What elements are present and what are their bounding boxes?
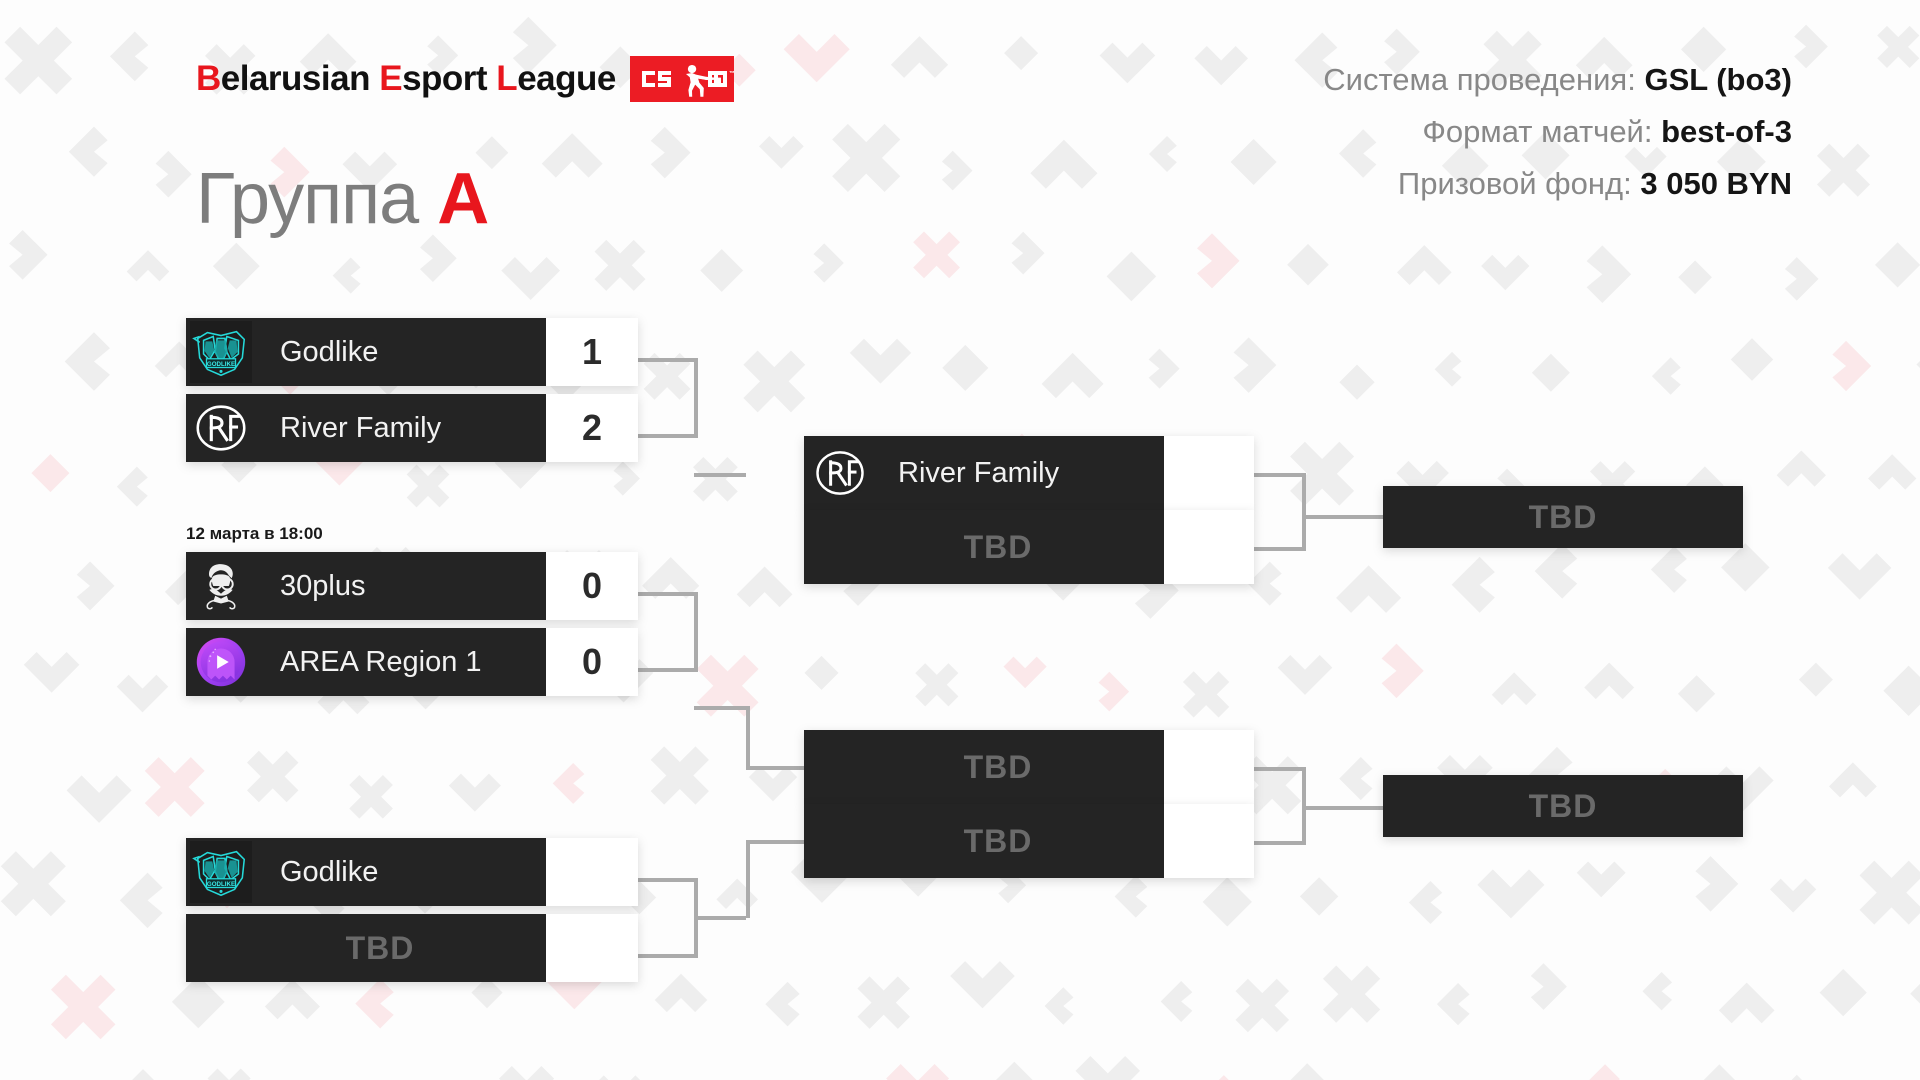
- team-name-tbd: TBD: [832, 529, 1164, 566]
- team-row[interactable]: GODLIKEGodlike: [186, 838, 638, 906]
- godlike-logo: GODLIKE: [190, 321, 252, 383]
- team-box[interactable]: TBD: [804, 510, 1164, 584]
- team-name: River Family: [898, 457, 1059, 490]
- tournament-info: Система проведения: GSL (bo3) Формат мат…: [1323, 54, 1792, 210]
- group-label: Группа: [196, 159, 418, 239]
- group-title: Группа A: [196, 158, 488, 240]
- league-title-part: sport: [402, 59, 496, 98]
- svg-text:GODLIKE: GODLIKE: [207, 361, 235, 368]
- info-line-prize-pool: Призовой фонд: 3 050 BYN: [1323, 158, 1792, 210]
- team-row[interactable]: TBD: [804, 730, 1254, 804]
- team-name: River Family: [280, 412, 441, 445]
- score-box: [1164, 510, 1254, 584]
- info-label: Формат матчей:: [1422, 114, 1652, 149]
- group-letter: A: [437, 159, 488, 239]
- team-row[interactable]: 30plus0: [186, 552, 638, 620]
- league-title-text: Belarusian Esport League: [196, 59, 616, 99]
- score-box: [1164, 730, 1254, 804]
- score-box: 2: [546, 394, 638, 462]
- godlike-logo: GODLIKE: [190, 841, 252, 903]
- team-box[interactable]: GODLIKEGodlike: [186, 838, 546, 906]
- team-row[interactable]: TBD: [804, 510, 1254, 584]
- final-slot[interactable]: TBD: [1383, 775, 1743, 837]
- info-line-match-format: Формат матчей: best-of-3: [1323, 106, 1792, 158]
- team-name-tbd: TBD: [832, 749, 1164, 786]
- team-name: Godlike: [280, 336, 378, 369]
- league-title: Belarusian Esport League: [196, 56, 734, 102]
- team-row[interactable]: TBD: [186, 914, 638, 982]
- score-box: [546, 838, 638, 906]
- score-box: 1: [546, 318, 638, 386]
- league-title-part: elarusian: [221, 59, 379, 98]
- match-date-label: 12 марта в 18:00: [186, 524, 323, 544]
- team-name: 30plus: [280, 570, 365, 603]
- league-title-accent: B: [196, 59, 221, 98]
- team-name-tbd: TBD: [214, 930, 546, 967]
- score-box: [1164, 804, 1254, 878]
- team-box[interactable]: TBD: [804, 730, 1164, 804]
- info-label: Призовой фонд:: [1398, 166, 1632, 201]
- team-row[interactable]: TBD: [804, 804, 1254, 878]
- river-family-logo: [810, 443, 870, 503]
- league-title-part: eague: [517, 59, 616, 98]
- river-family-logo: [190, 397, 252, 459]
- thirtyplus-logo: [190, 555, 252, 617]
- team-box[interactable]: AREA Region 1: [186, 628, 546, 696]
- info-value: best-of-3: [1661, 114, 1792, 149]
- team-name: Godlike: [280, 856, 378, 889]
- team-row[interactable]: River Family: [804, 436, 1254, 510]
- svg-text:™: ™: [729, 70, 734, 77]
- score-box: [1164, 436, 1254, 510]
- league-title-accent: E: [379, 59, 402, 98]
- team-name-tbd: TBD: [832, 823, 1164, 860]
- team-row[interactable]: River Family2: [186, 394, 638, 462]
- info-line-format-system: Система проведения: GSL (bo3): [1323, 54, 1792, 106]
- team-name-tbd: TBD: [1383, 499, 1743, 536]
- team-box[interactable]: TBD: [804, 804, 1164, 878]
- score-box: 0: [546, 628, 638, 696]
- svg-text:GODLIKE: GODLIKE: [207, 881, 235, 888]
- score-box: 0: [546, 552, 638, 620]
- team-box[interactable]: River Family: [186, 394, 546, 462]
- team-box[interactable]: TBD: [1383, 486, 1743, 548]
- team-box[interactable]: River Family: [804, 436, 1164, 510]
- score-box: [546, 914, 638, 982]
- team-box[interactable]: TBD: [1383, 775, 1743, 837]
- final-slot[interactable]: TBD: [1383, 486, 1743, 548]
- team-row[interactable]: AREA Region 10: [186, 628, 638, 696]
- info-value: 3 050 BYN: [1640, 166, 1792, 201]
- team-name-tbd: TBD: [1383, 788, 1743, 825]
- league-title-accent: L: [496, 59, 517, 98]
- team-name: AREA Region 1: [280, 646, 482, 679]
- team-box[interactable]: GODLIKEGodlike: [186, 318, 546, 386]
- area-region-logo: [190, 631, 252, 693]
- header-left: Belarusian Esport League: [196, 56, 734, 102]
- team-row[interactable]: GODLIKEGodlike1: [186, 318, 638, 386]
- bracket-page: Belarusian Esport League: [0, 0, 1920, 1080]
- team-box[interactable]: 30plus: [186, 552, 546, 620]
- team-box[interactable]: TBD: [186, 914, 546, 982]
- info-value: GSL (bo3): [1644, 62, 1792, 97]
- info-label: Система проведения:: [1323, 62, 1636, 97]
- csgo-logo-icon: ™: [630, 56, 734, 102]
